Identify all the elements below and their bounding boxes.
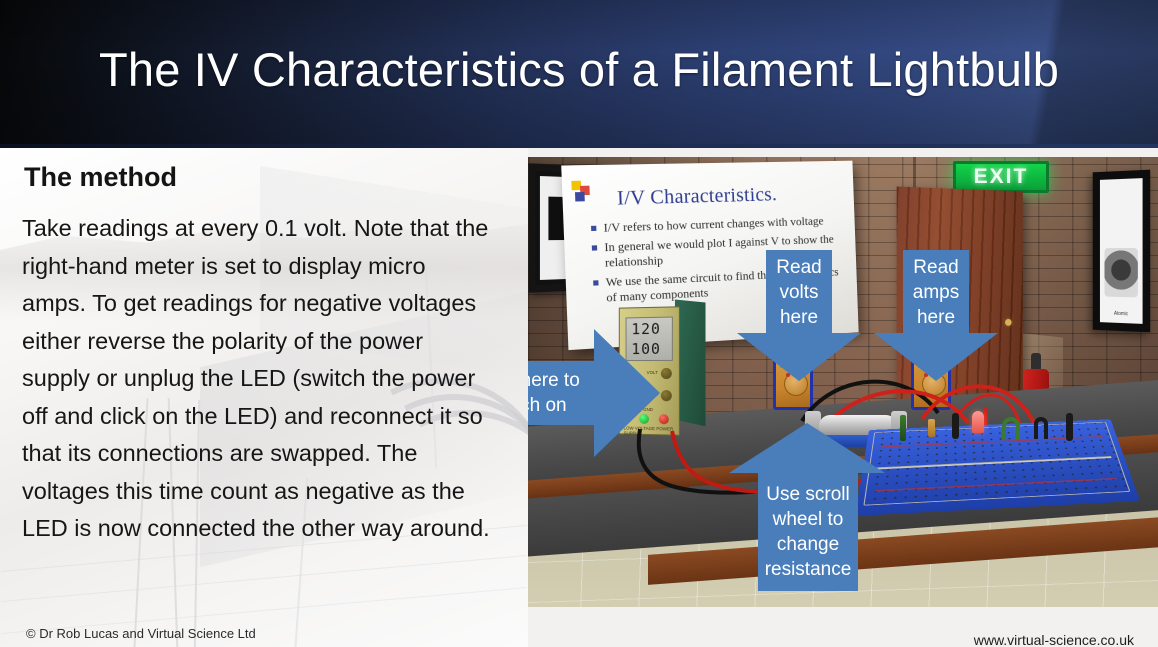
callout-amps-line2: amps (903, 280, 969, 305)
callout-scroll-line2: wheel to (758, 507, 858, 532)
callout-volts-arrow-icon (737, 333, 861, 381)
resistor-component[interactable] (900, 415, 906, 441)
callout-scroll-line4: resistance (758, 557, 858, 582)
callout-click-arrow-icon (594, 329, 660, 457)
copyright-footer: © Dr Rob Lucas and Virtual Science Ltd (26, 626, 256, 641)
breadboard-ground-rail (875, 478, 1117, 492)
callout-volts-line2: volts (766, 280, 832, 305)
callout-scroll-line3: change (758, 532, 858, 557)
title-banner: The IV Characteristics of a Filament Lig… (0, 0, 1158, 148)
callout-click-line2: switch on (528, 393, 580, 418)
callout-volts-line1: Read (766, 255, 832, 280)
section-heading: The method (24, 162, 177, 193)
callout-scroll-line1: Use scroll (758, 482, 858, 507)
black-probe-lead[interactable] (1066, 413, 1073, 441)
callout-read-volts[interactable]: Read volts here (766, 250, 832, 334)
callout-amps-arrow-icon (874, 333, 998, 381)
black-jumper-lead[interactable] (952, 413, 959, 439)
exit-sign-label: EXIT (974, 165, 1029, 189)
presentation-logo-icon (570, 179, 598, 206)
callout-volts-line3: here (766, 305, 832, 330)
breadboard[interactable] (855, 419, 1140, 516)
method-body-text: Take readings at every 0.1 volt. Note th… (22, 210, 492, 548)
method-text-panel: The method Take readings at every 0.1 vo… (0, 148, 528, 647)
page-title: The IV Characteristics of a Filament Lig… (0, 42, 1158, 97)
callout-amps-line3: here (903, 305, 969, 330)
current-knob[interactable] (661, 390, 672, 401)
voltage-knob[interactable] (661, 368, 672, 379)
poster-caption: Atomic (1100, 310, 1143, 318)
led-component[interactable] (972, 411, 984, 433)
callout-scroll-arrow-icon (729, 423, 885, 473)
callout-click-line1: Click here to (528, 368, 580, 393)
callout-read-amps[interactable]: Read amps here (903, 250, 969, 334)
capacitor-component[interactable] (928, 419, 935, 437)
door-knob (1005, 319, 1012, 326)
exit-sign: EXIT (953, 161, 1049, 193)
poster-artwork (1104, 248, 1138, 297)
website-footer: www.virtual-science.co.uk (974, 632, 1134, 647)
black-jumper-wire[interactable] (1034, 417, 1048, 439)
breadboard-center-channel (876, 456, 1112, 469)
green-jumper-wire[interactable] (1002, 417, 1020, 439)
callout-scroll-wheel[interactable]: Use scroll wheel to change resistance (758, 473, 858, 591)
lab-scene-image[interactable]: I/V Characteristics. I/V refers to how c… (528, 157, 1158, 607)
callout-click-to-switch-on[interactable]: Click here to switch on (528, 361, 594, 425)
wall-poster-right: Atomic (1093, 170, 1151, 333)
whiteboard-title: I/V Characteristics. (617, 182, 843, 211)
callout-amps-line1: Read (903, 255, 969, 280)
